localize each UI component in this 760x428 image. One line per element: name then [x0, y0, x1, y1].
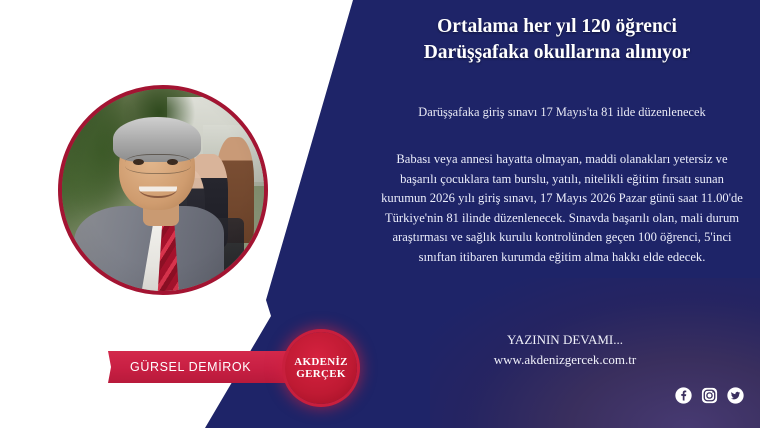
news-graphic-card: GÜRSEL DEMİROK AKDENİZ GERÇEK Ortalama h… [0, 0, 760, 428]
headline-line-1: Ortalama her yıl 120 öğrenci [366, 14, 748, 40]
twitter-icon[interactable] [727, 387, 744, 404]
brand-logo-badge[interactable]: AKDENİZ GERÇEK [285, 332, 357, 404]
instagram-icon[interactable] [701, 387, 718, 404]
read-more-label: YAZININ DEVAMI... [400, 330, 730, 350]
author-name-label: GÜRSEL DEMİROK [130, 360, 251, 374]
brand-logo-line2: GERÇEK [296, 368, 345, 380]
read-more-block: YAZININ DEVAMI... www.akdenizgercek.com.… [400, 330, 730, 369]
social-links [675, 387, 744, 404]
brand-logo-line1: AKDENİZ [294, 356, 347, 368]
facebook-icon[interactable] [675, 387, 692, 404]
headline-line-2: Darüşşafaka okullarına alınıyor [366, 40, 748, 66]
headline: Ortalama her yıl 120 öğrenci Darüşşafaka… [366, 14, 748, 67]
article-body-text: Babası veya annesi hayatta olmayan, madd… [380, 150, 744, 267]
website-url[interactable]: www.akdenizgercek.com.tr [400, 350, 730, 370]
author-portrait [58, 85, 268, 295]
author-name-banner: GÜRSEL DEMİROK [108, 351, 298, 383]
subheadline: Darüşşafaka giriş sınavı 17 Mayıs'ta 81 … [382, 104, 742, 122]
portrait-photo [62, 89, 264, 291]
photo-vignette [62, 89, 264, 291]
